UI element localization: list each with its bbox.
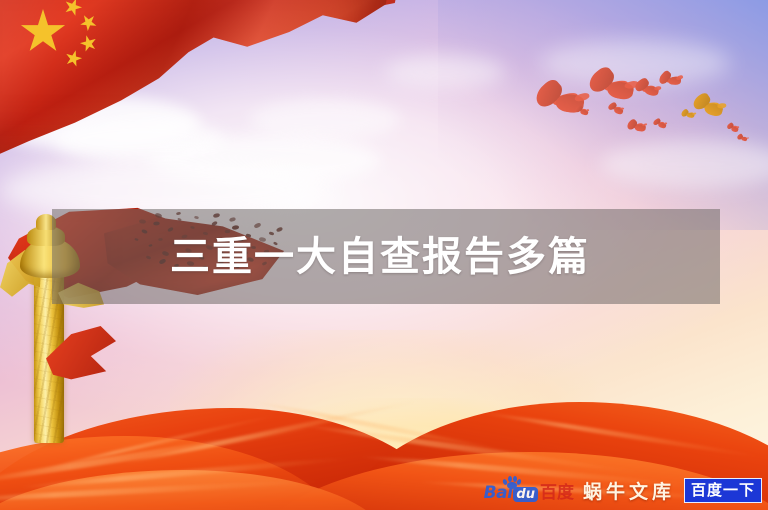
baidu-logo-chinese: 百度: [540, 484, 574, 502]
baidu-logo-du: du: [513, 487, 538, 502]
flag-shading: [0, 0, 390, 167]
baidu-search-button[interactable]: 百度一下: [684, 478, 762, 503]
title-banner: 三重一大自查报告多篇: [52, 209, 720, 304]
bird: [574, 104, 590, 116]
site-name: 蜗牛文库: [583, 477, 675, 504]
baidu-logo: Bai du 百度: [484, 478, 574, 502]
page-title: 三重一大自查报告多篇: [170, 237, 590, 277]
bird: [608, 101, 626, 114]
paw-print-icon: [503, 476, 520, 489]
bird: [737, 132, 750, 142]
bird: [653, 117, 669, 129]
watermark-bar: Bai du 百度 蜗牛文库 百度一下: [484, 476, 762, 504]
cloud: [385, 55, 505, 89]
chinese-national-flag: [0, 0, 390, 167]
promo-image-canvas: 三重一大自查报告多篇 Bai du 百度 蜗牛文库 百度一下: [0, 0, 768, 510]
